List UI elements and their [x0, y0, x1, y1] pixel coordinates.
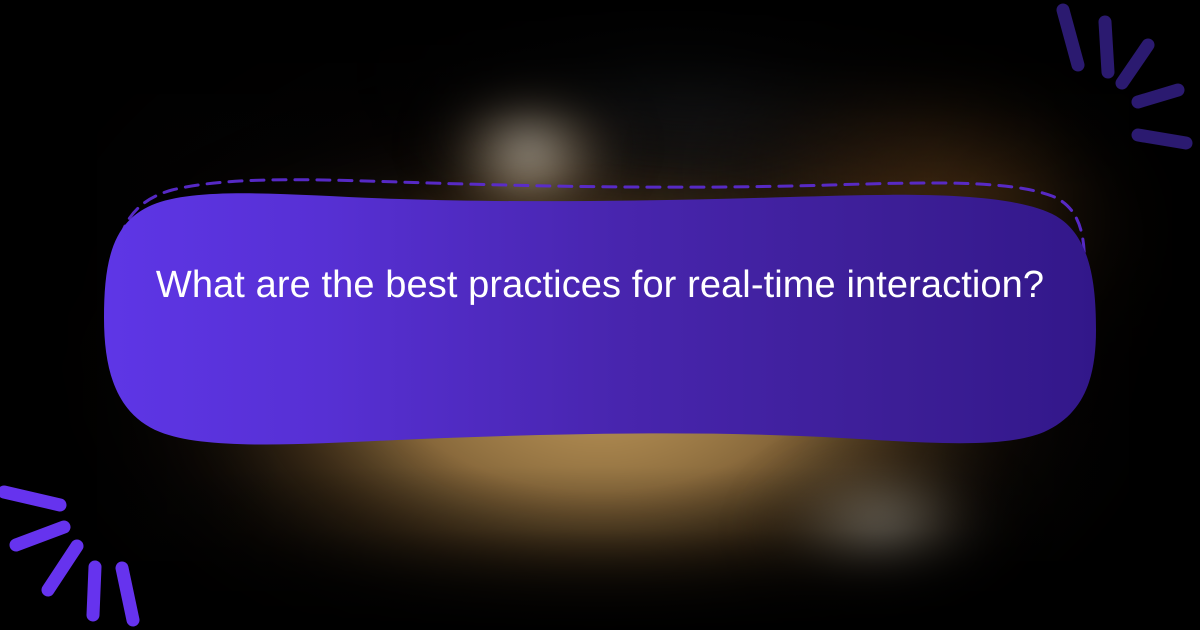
sparkle-ray [93, 567, 95, 615]
sparkle-burst-top-right [1063, 10, 1186, 143]
sparkle-ray [1138, 135, 1186, 143]
page-title: What are the best practices for real-tim… [150, 258, 1050, 313]
sparkle-ray [16, 527, 64, 545]
sparkle-ray [4, 492, 60, 505]
sparkle-ray [1138, 90, 1178, 102]
vector-overlay [0, 0, 1200, 630]
sparkle-ray [1063, 10, 1078, 65]
sparkle-ray [48, 546, 77, 590]
speech-blob [104, 193, 1096, 444]
social-card: What are the best practices for real-tim… [0, 0, 1200, 630]
sparkle-ray [122, 568, 133, 620]
sparkle-ray [1122, 45, 1148, 83]
sparkle-ray [1105, 22, 1108, 72]
sparkle-burst-bottom-left [4, 492, 133, 620]
